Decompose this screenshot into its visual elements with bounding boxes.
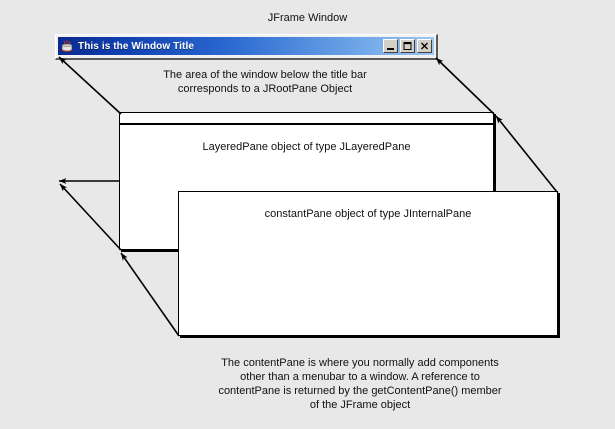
- arrow-rootpane-right: [436, 58, 494, 114]
- diagram-canvas: JFrame Window This is the Window Title: [0, 0, 615, 429]
- java-coffee-cup-icon: [60, 39, 74, 53]
- diagram-caption: JFrame Window: [0, 12, 615, 24]
- maximize-icon[interactable]: [400, 39, 415, 53]
- arrow-rootpane-left: [59, 57, 121, 114]
- close-icon[interactable]: [417, 39, 432, 53]
- content-pane-box: constantPane object of type JInternalPan…: [178, 191, 558, 336]
- contentpane-note-line-3: contentPane is returned by the getConten…: [150, 384, 570, 398]
- contentpane-note-line-4: of the JFrame object: [150, 398, 570, 412]
- contentpane-note-line-2: other than a menubar to a window. A refe…: [150, 370, 570, 384]
- arrow-contentpane-right: [496, 116, 557, 192]
- jframe-window: This is the Window Title: [55, 34, 438, 60]
- window-title-text: This is the Window Title: [78, 41, 194, 52]
- arrow-contentpane-left: [121, 253, 179, 336]
- menubar-strip: [120, 123, 493, 125]
- contentpane-note: The contentPane is where you normally ad…: [150, 356, 570, 412]
- jrootpane-note-line-2: corresponds to a JRootPane Object: [115, 82, 415, 96]
- jrootpane-note: The area of the window below the title b…: [115, 68, 415, 96]
- jrootpane-note-line-1: The area of the window below the title b…: [115, 68, 415, 82]
- content-pane-label: constantPane object of type JInternalPan…: [179, 208, 557, 220]
- window-titlebar[interactable]: This is the Window Title: [58, 37, 434, 55]
- arrow-layeredpane-diagonal: [60, 184, 121, 250]
- window-controls: [383, 39, 433, 53]
- layered-pane-label: LayeredPane object of type JLayeredPane: [120, 141, 493, 153]
- minimize-icon[interactable]: [383, 39, 398, 53]
- contentpane-note-line-1: The contentPane is where you normally ad…: [150, 356, 570, 370]
